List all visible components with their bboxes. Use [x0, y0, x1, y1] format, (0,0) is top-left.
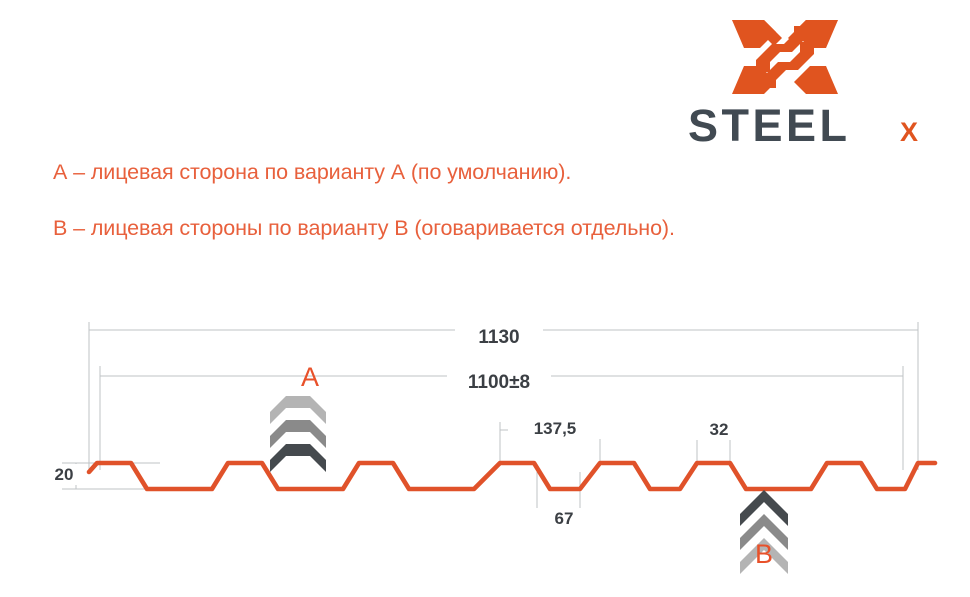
chevron-down-icon-1: [270, 396, 326, 424]
brand-logo: STEEL X: [688, 14, 944, 150]
corrugated-profile-line: [89, 463, 935, 489]
legend-variant-a: А – лицевая сторона по варианту А (по ум…: [53, 160, 571, 185]
dimension-label-rib-pitch: 137,5: [508, 418, 602, 439]
wordmark-superscript: X: [900, 117, 918, 147]
legend-variant-b: В – лицевая стороны по варианту В (огова…: [53, 216, 675, 241]
dimension-label-rib-height: 20: [44, 464, 84, 485]
variant-a-marker: [270, 396, 326, 472]
variant-b-letter: В: [748, 541, 780, 568]
variant-a-letter: А: [294, 364, 326, 391]
chevron-down-icon-3: [270, 444, 326, 472]
chevron-down-icon-2: [270, 420, 326, 448]
dimension-label-rib-crest-width: 32: [694, 419, 744, 440]
steelx-x-logo-icon: [730, 14, 840, 100]
dimension-label-overall-width: 1130: [455, 326, 543, 349]
wordmark-text: STEEL: [688, 102, 851, 148]
dimension-label-valley-width: 67: [535, 508, 593, 529]
dimension-label-useful-width: 1100±8: [447, 371, 551, 394]
steelx-wordmark: STEEL X: [688, 102, 944, 148]
